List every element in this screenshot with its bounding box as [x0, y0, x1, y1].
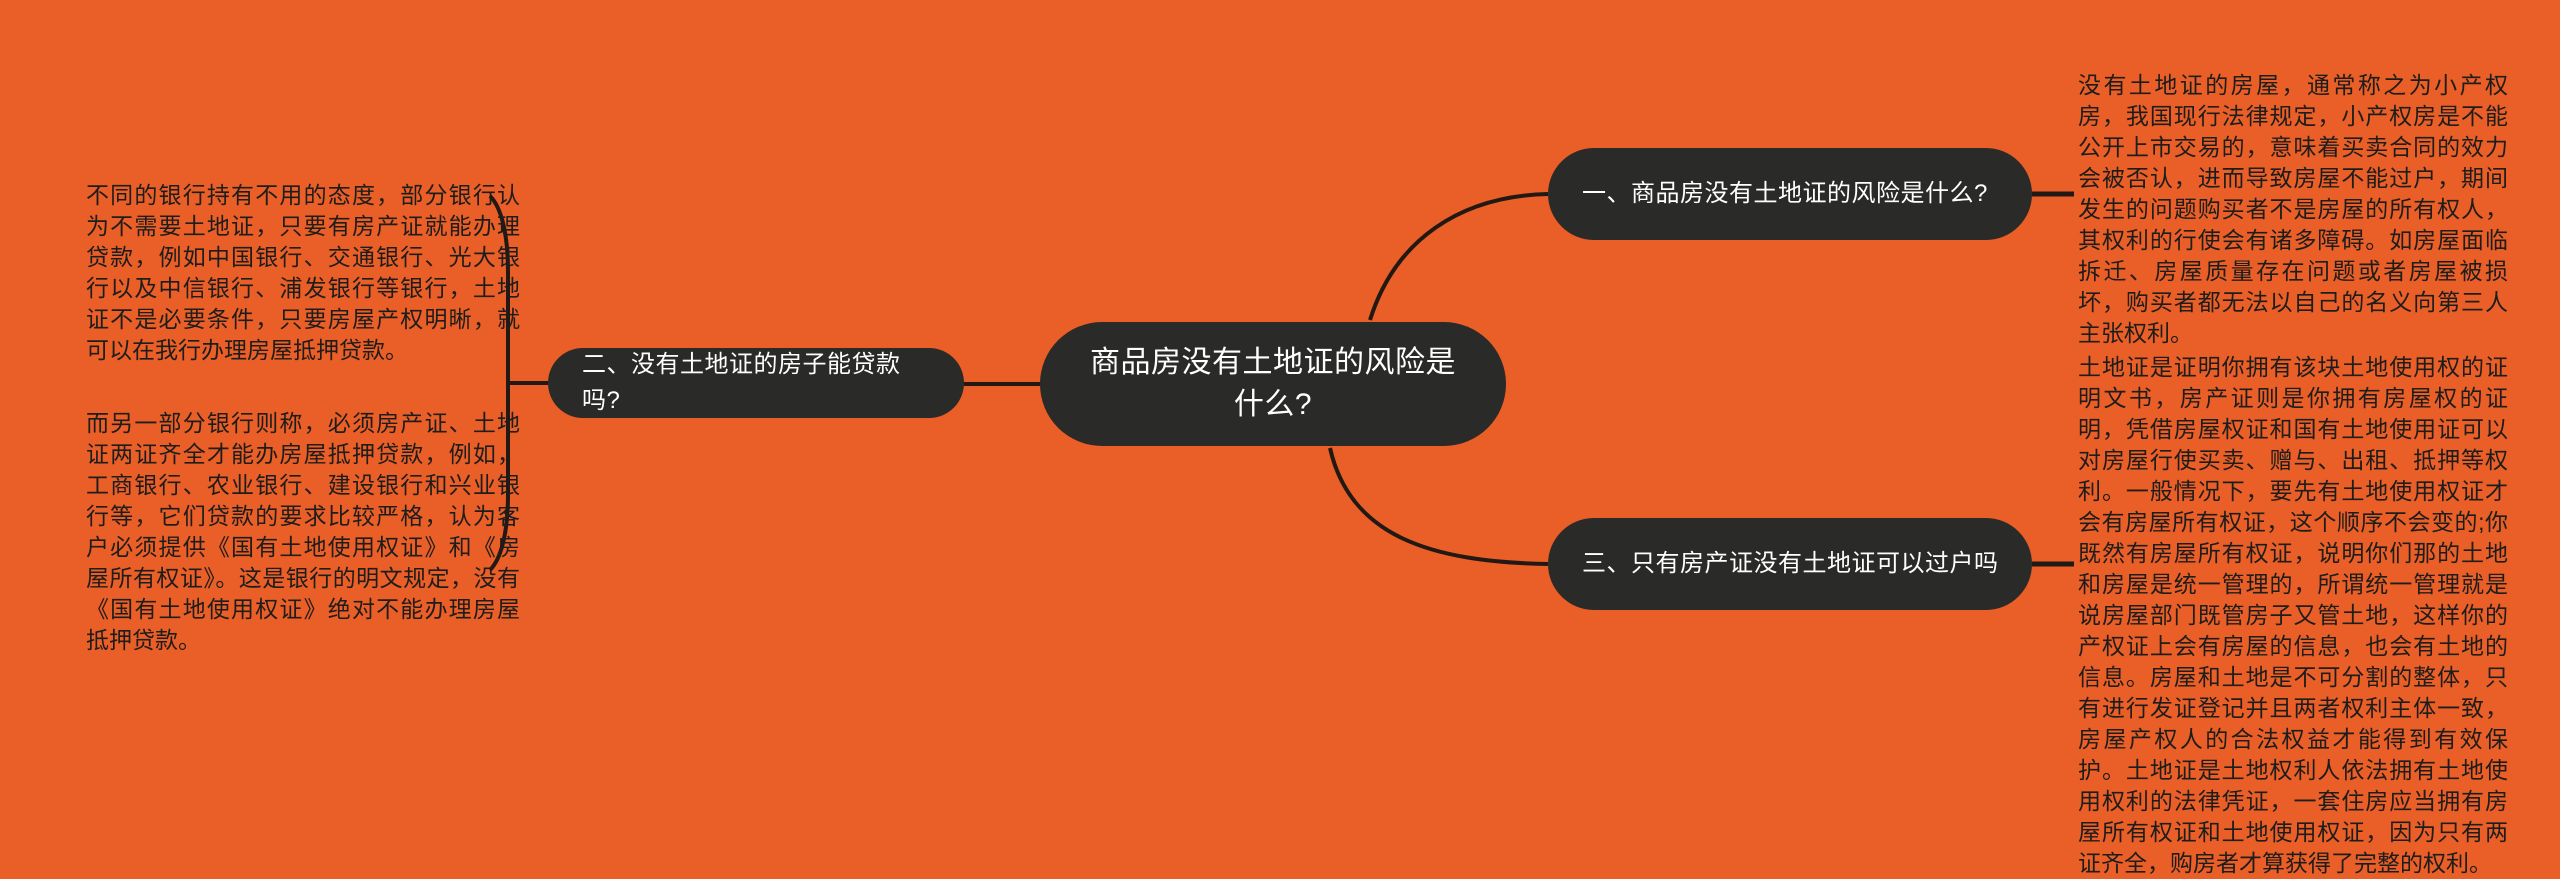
center-node[interactable]: 商品房没有土地证的风险是什么?	[1040, 322, 1506, 446]
branch-node-left[interactable]: 二、没有土地证的房子能贷款吗?	[548, 348, 964, 418]
edge-center-to-right-top	[1370, 194, 1548, 320]
paragraph-left-bottom: 而另一部分银行则称，必须房产证、土地证两证齐全才能办房屋抵押贷款，例如，工商银行…	[86, 408, 520, 656]
branch-node-right-bottom-label: 三、只有房产证没有土地证可以过户吗	[1582, 546, 2006, 582]
paragraph-left-top: 不同的银行持有不用的态度，部分银行认为不需要土地证，只要有房产证就能办理贷款，例…	[86, 180, 520, 366]
branch-node-right-bottom[interactable]: 三、只有房产证没有土地证可以过户吗	[1548, 518, 2032, 610]
branch-node-right-top-label: 一、商品房没有土地证的风险是什么?	[1582, 176, 2006, 212]
paragraph-right-top: 没有土地证的房屋，通常称之为小产权房，我国现行法律规定，小产权房是不能公开上市交…	[2078, 70, 2508, 349]
branch-node-right-top[interactable]: 一、商品房没有土地证的风险是什么?	[1548, 148, 2032, 240]
mindmap-canvas: 商品房没有土地证的风险是什么? 一、商品房没有土地证的风险是什么? 没有土地证的…	[0, 0, 2560, 849]
center-node-label: 商品房没有土地证的风险是什么?	[1080, 342, 1466, 426]
edge-center-to-right-bottom	[1330, 448, 1548, 564]
paragraph-right-bottom: 土地证是证明你拥有该块土地使用权的证明文书，房产证则是你拥有房屋权的证明，凭借房…	[2078, 352, 2508, 879]
branch-node-left-label: 二、没有土地证的房子能贷款吗?	[582, 347, 938, 419]
